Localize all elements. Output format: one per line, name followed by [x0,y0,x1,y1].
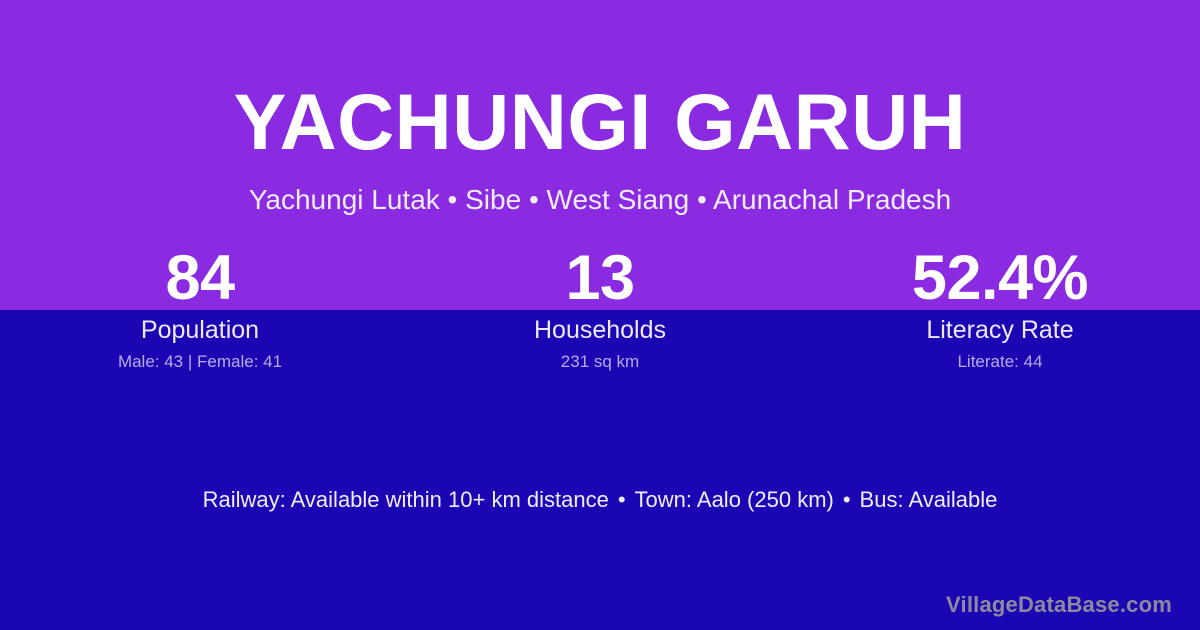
site-watermark: VillageDataBase.com [946,592,1172,618]
bullet-separator-icon: • [834,487,860,512]
bullet-separator-icon: • [609,487,635,512]
households-value: 13 [400,246,800,310]
page-title: YACHUNGI GARUH [0,82,1200,161]
village-info-card: YACHUNGI GARUH Yachungi Lutak • Sibe • W… [0,0,1200,630]
railway-info: Railway: Available within 10+ km distanc… [203,487,609,512]
literacy-rate-value: 52.4% [800,246,1200,310]
stats-row: 84 Population Male: 43 | Female: 41 13 H… [0,246,1200,372]
stat-literacy-rate: 52.4% Literacy Rate Literate: 44 [800,246,1200,372]
area-value: 231 sq km [400,352,800,372]
stat-households: 13 Households 231 sq km [400,246,800,372]
population-value: 84 [0,246,400,310]
literacy-rate-label: Literacy Rate [800,315,1200,345]
nearest-town-info: Town: Aalo (250 km) [635,487,834,512]
population-label: Population [0,315,400,345]
stat-population: 84 Population Male: 43 | Female: 41 [0,246,400,372]
literate-count: Literate: 44 [800,352,1200,372]
village-location-breadcrumb: Yachungi Lutak • Sibe • West Siang • Aru… [0,182,1200,217]
transport-info-line: Railway: Available within 10+ km distanc… [0,487,1200,513]
households-label: Households [400,315,800,345]
bus-info: Bus: Available [860,487,998,512]
population-breakdown: Male: 43 | Female: 41 [0,352,400,372]
